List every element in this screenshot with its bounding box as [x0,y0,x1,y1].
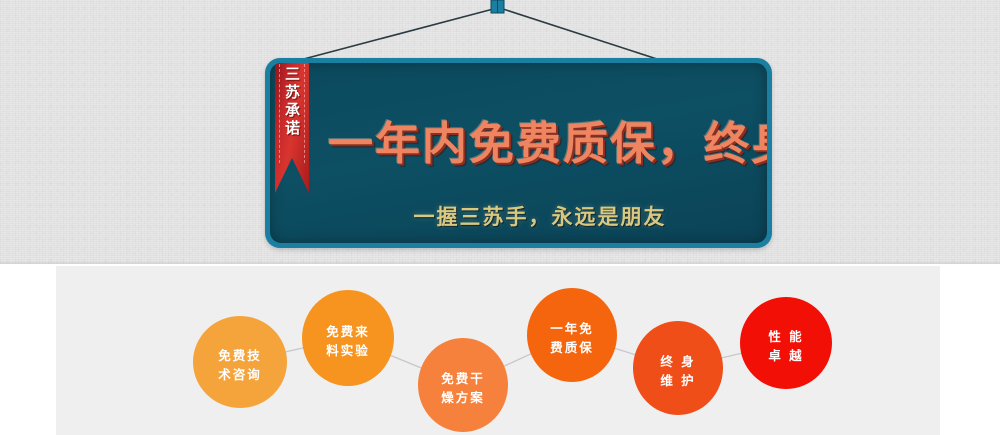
flow-bubble-label: 料实验 [326,343,370,358]
flow-bubble[interactable]: 免费来料实验 [302,290,394,386]
flow-bubble-label: 免费技 [218,348,262,363]
flow-bubble-label: 一年免 [550,321,594,336]
flow-bubble[interactable]: 性 能卓 越 [740,297,832,389]
service-flow-diagram: 免费技术咨询免费来料实验免费干燥方案一年免费质保终 身维 护性 能卓 越 [0,266,1000,435]
hanger-right-cord [500,8,660,60]
hero-background: 三苏承诺 一年内免费质保，终身维护 一握三苏手，永远是朋友 [0,0,1000,264]
flow-bubbles: 免费技术咨询免费来料实验免费干燥方案一年免费质保终 身维 护性 能卓 越 [193,288,832,432]
flow-bubble-label: 术咨询 [217,367,262,382]
promise-ribbon: 三苏承诺 [275,63,309,193]
flow-bubble[interactable]: 一年免费质保 [527,288,617,382]
promise-ribbon-label: 三苏承诺 [275,66,309,138]
hanger-left-cord [300,8,497,60]
flow-bubble-label: 卓 越 [768,348,803,363]
flow-bubble-label: 终 身 [660,354,695,369]
flow-bubble[interactable]: 终 身维 护 [633,321,723,415]
flow-bubble-label: 费质保 [550,340,594,355]
flow-bubble-label: 性 能 [767,329,803,344]
flow-bubble-label: 免费干 [441,371,485,386]
flow-bubble[interactable]: 免费技术咨询 [193,316,287,408]
flow-bubble-label: 燥方案 [441,390,485,405]
banner-subtitle: 一握三苏手，永远是朋友 [310,201,767,231]
flow-bubble[interactable]: 免费干燥方案 [418,338,508,432]
flow-bubble-label: 免费来 [326,324,370,339]
service-flow-section: 免费技术咨询免费来料实验免费干燥方案一年免费质保终 身维 护性 能卓 越 [0,266,1000,435]
promise-banner: 三苏承诺 一年内免费质保，终身维护 一握三苏手，永远是朋友 [265,58,772,248]
promise-banner-inner: 三苏承诺 一年内免费质保，终身维护 一握三苏手，永远是朋友 [270,63,767,243]
banner-headline: 一年内免费质保，终身维护 [328,107,767,172]
flow-bubble-label: 维 护 [660,373,695,388]
